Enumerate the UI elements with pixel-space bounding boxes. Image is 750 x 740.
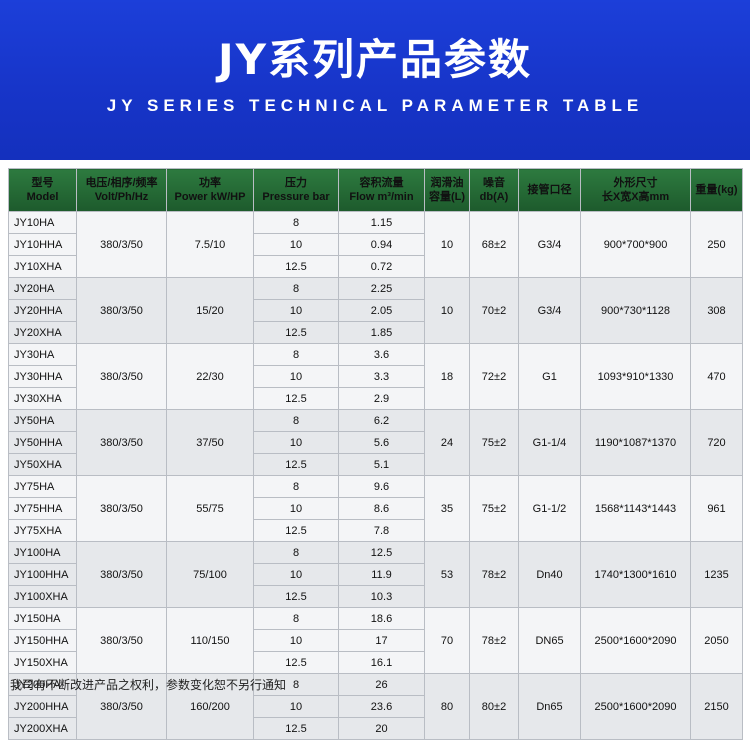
cell-pressure: 10 — [254, 498, 339, 520]
header-flow: 容积流量 Flow m³/min — [339, 169, 425, 212]
cell-port: Dn65 — [519, 674, 581, 740]
cell-oil: 80 — [425, 674, 470, 740]
header-model: 型号 Model — [9, 169, 77, 212]
footer-note: 我司有不断改进产品之权利，参数变化恕不另行通知 — [10, 676, 286, 693]
cell-flow: 2.25 — [339, 278, 425, 300]
page-root: JY系列产品参数 JY SERIES TECHNICAL PARAMETER T… — [0, 0, 750, 701]
header-voltage-en: Volt/Ph/Hz — [77, 190, 166, 204]
cell-dimension: 2500*1600*2090 — [581, 674, 691, 740]
header-weight: 重量(kg) — [691, 169, 743, 212]
spec-table-container: 型号 Model 电压/相序/频率 Volt/Ph/Hz 功率 Power kW… — [8, 168, 742, 740]
cell-weight: 470 — [691, 344, 743, 410]
cell-model: JY200HHA — [9, 696, 77, 718]
cell-power: 22/30 — [167, 344, 254, 410]
cell-pressure: 12.5 — [254, 652, 339, 674]
table-head: 型号 Model 电压/相序/频率 Volt/Ph/Hz 功率 Power kW… — [9, 169, 743, 212]
table-row: JY50HA380/3/5037/5086.22475±2G1-1/41190*… — [9, 410, 743, 432]
table-row: JY30HA380/3/5022/3083.61872±2G11093*910*… — [9, 344, 743, 366]
cell-voltage: 380/3/50 — [77, 476, 167, 542]
cell-flow: 7.8 — [339, 520, 425, 542]
cell-model: JY20HHA — [9, 300, 77, 322]
cell-noise: 78±2 — [470, 608, 519, 674]
cell-flow: 20 — [339, 718, 425, 740]
header-port: 接管口径 — [519, 169, 581, 212]
cell-flow: 8.6 — [339, 498, 425, 520]
header-port-cn: 接管口径 — [519, 183, 580, 197]
cell-weight: 2050 — [691, 608, 743, 674]
cell-flow: 17 — [339, 630, 425, 652]
cell-flow: 12.5 — [339, 542, 425, 564]
cell-flow: 26 — [339, 674, 425, 696]
cell-oil: 35 — [425, 476, 470, 542]
cell-oil: 70 — [425, 608, 470, 674]
header-pressure: 压力 Pressure bar — [254, 169, 339, 212]
cell-flow: 5.6 — [339, 432, 425, 454]
cell-voltage: 380/3/50 — [77, 410, 167, 476]
cell-model: JY10XHA — [9, 256, 77, 278]
cell-model: JY150HHA — [9, 630, 77, 652]
cell-voltage: 380/3/50 — [77, 344, 167, 410]
cell-pressure: 8 — [254, 212, 339, 234]
banner-title: JY系列产品参数 — [0, 34, 750, 86]
banner-subtitle: JY SERIES TECHNICAL PARAMETER TABLE — [0, 96, 750, 116]
cell-pressure: 12.5 — [254, 718, 339, 740]
header-model-cn: 型号 — [9, 176, 76, 190]
cell-flow: 3.3 — [339, 366, 425, 388]
cell-pressure: 10 — [254, 366, 339, 388]
cell-weight: 720 — [691, 410, 743, 476]
cell-model: JY30XHA — [9, 388, 77, 410]
cell-voltage: 380/3/50 — [77, 212, 167, 278]
cell-flow: 2.05 — [339, 300, 425, 322]
cell-pressure: 10 — [254, 630, 339, 652]
header-dimension-cn: 外形尺寸 — [581, 176, 690, 190]
table-body: JY10HA380/3/507.5/1081.151068±2G3/4900*7… — [9, 212, 743, 740]
cell-oil: 10 — [425, 212, 470, 278]
header-power-en: Power kW/HP — [167, 190, 253, 204]
cell-model: JY150HA — [9, 608, 77, 630]
cell-flow: 10.3 — [339, 586, 425, 608]
cell-pressure: 8 — [254, 608, 339, 630]
cell-weight: 250 — [691, 212, 743, 278]
cell-noise: 70±2 — [470, 278, 519, 344]
cell-flow: 23.6 — [339, 696, 425, 718]
header-oil-cn: 润滑油 — [425, 176, 469, 190]
header-pressure-cn: 压力 — [254, 176, 338, 190]
cell-power: 55/75 — [167, 476, 254, 542]
table-row: JY75HA380/3/5055/7589.63575±2G1-1/21568*… — [9, 476, 743, 498]
cell-pressure: 10 — [254, 696, 339, 718]
cell-noise: 75±2 — [470, 476, 519, 542]
cell-power: 75/100 — [167, 542, 254, 608]
cell-flow: 2.9 — [339, 388, 425, 410]
cell-oil: 53 — [425, 542, 470, 608]
cell-flow: 3.6 — [339, 344, 425, 366]
cell-voltage: 380/3/50 — [77, 608, 167, 674]
cell-oil: 10 — [425, 278, 470, 344]
cell-dimension: 1740*1300*1610 — [581, 542, 691, 608]
cell-power: 110/150 — [167, 608, 254, 674]
cell-flow: 1.15 — [339, 212, 425, 234]
header-noise-en: db(A) — [470, 190, 518, 204]
banner-text-block: JY系列产品参数 JY SERIES TECHNICAL PARAMETER T… — [0, 34, 750, 116]
table-row: JY100HA380/3/5075/100812.55378±2Dn401740… — [9, 542, 743, 564]
cell-power: 15/20 — [167, 278, 254, 344]
header-dimension: 外形尺寸 长X宽X高mm — [581, 169, 691, 212]
cell-flow: 5.1 — [339, 454, 425, 476]
header-row: 型号 Model 电压/相序/频率 Volt/Ph/Hz 功率 Power kW… — [9, 169, 743, 212]
cell-pressure: 10 — [254, 300, 339, 322]
table-row: JY10HA380/3/507.5/1081.151068±2G3/4900*7… — [9, 212, 743, 234]
cell-model: JY20HA — [9, 278, 77, 300]
cell-dimension: 1190*1087*1370 — [581, 410, 691, 476]
cell-port: G1-1/2 — [519, 476, 581, 542]
cell-pressure: 12.5 — [254, 520, 339, 542]
cell-port: G1-1/4 — [519, 410, 581, 476]
cell-oil: 24 — [425, 410, 470, 476]
cell-dimension: 1568*1143*1443 — [581, 476, 691, 542]
cell-pressure: 8 — [254, 278, 339, 300]
cell-pressure: 10 — [254, 234, 339, 256]
cell-weight: 1235 — [691, 542, 743, 608]
cell-flow: 11.9 — [339, 564, 425, 586]
header-flow-en: Flow m³/min — [339, 190, 424, 204]
cell-pressure: 8 — [254, 476, 339, 498]
cell-dimension: 1093*910*1330 — [581, 344, 691, 410]
cell-pressure: 12.5 — [254, 454, 339, 476]
cell-flow: 6.2 — [339, 410, 425, 432]
cell-model: JY200XHA — [9, 718, 77, 740]
cell-pressure: 12.5 — [254, 388, 339, 410]
cell-noise: 80±2 — [470, 674, 519, 740]
cell-model: JY75XHA — [9, 520, 77, 542]
cell-model: JY100HHA — [9, 564, 77, 586]
cell-voltage: 380/3/50 — [77, 278, 167, 344]
cell-port: DN65 — [519, 608, 581, 674]
header-noise: 噪音 db(A) — [470, 169, 519, 212]
cell-model: JY50HHA — [9, 432, 77, 454]
cell-dimension: 2500*1600*2090 — [581, 608, 691, 674]
cell-voltage: 380/3/50 — [77, 542, 167, 608]
cell-pressure: 10 — [254, 564, 339, 586]
cell-noise: 72±2 — [470, 344, 519, 410]
cell-port: G3/4 — [519, 212, 581, 278]
header-noise-cn: 噪音 — [470, 176, 518, 190]
cell-weight: 308 — [691, 278, 743, 344]
header-oil: 润滑油 容量(L) — [425, 169, 470, 212]
cell-flow: 0.94 — [339, 234, 425, 256]
cell-flow: 1.85 — [339, 322, 425, 344]
header-oil-en: 容量(L) — [425, 190, 469, 204]
cell-weight: 2150 — [691, 674, 743, 740]
cell-power: 7.5/10 — [167, 212, 254, 278]
cell-power: 37/50 — [167, 410, 254, 476]
cell-model: JY100HA — [9, 542, 77, 564]
cell-pressure: 12.5 — [254, 586, 339, 608]
cell-model: JY20XHA — [9, 322, 77, 344]
table-row: JY150HA380/3/50110/150818.67078±2DN65250… — [9, 608, 743, 630]
cell-noise: 75±2 — [470, 410, 519, 476]
header-voltage: 电压/相序/频率 Volt/Ph/Hz — [77, 169, 167, 212]
cell-pressure: 8 — [254, 542, 339, 564]
cell-flow: 9.6 — [339, 476, 425, 498]
cell-pressure: 8 — [254, 410, 339, 432]
header-power: 功率 Power kW/HP — [167, 169, 254, 212]
header-pressure-en: Pressure bar — [254, 190, 338, 204]
cell-pressure: 12.5 — [254, 322, 339, 344]
header-model-en: Model — [9, 190, 76, 204]
spec-table: 型号 Model 电压/相序/频率 Volt/Ph/Hz 功率 Power kW… — [8, 168, 743, 740]
banner: JY系列产品参数 JY SERIES TECHNICAL PARAMETER T… — [0, 0, 750, 160]
cell-port: G3/4 — [519, 278, 581, 344]
cell-model: JY75HA — [9, 476, 77, 498]
cell-model: JY150XHA — [9, 652, 77, 674]
header-power-cn: 功率 — [167, 176, 253, 190]
cell-oil: 18 — [425, 344, 470, 410]
header-dimension-en: 长X宽X高mm — [581, 190, 690, 204]
cell-model: JY50XHA — [9, 454, 77, 476]
cell-model: JY100XHA — [9, 586, 77, 608]
cell-model: JY50HA — [9, 410, 77, 432]
cell-dimension: 900*700*900 — [581, 212, 691, 278]
cell-noise: 78±2 — [470, 542, 519, 608]
header-flow-cn: 容积流量 — [339, 176, 424, 190]
cell-pressure: 10 — [254, 432, 339, 454]
cell-port: G1 — [519, 344, 581, 410]
cell-pressure: 8 — [254, 344, 339, 366]
cell-model: JY10HHA — [9, 234, 77, 256]
header-weight-cn: 重量(kg) — [691, 183, 742, 197]
cell-model: JY30HHA — [9, 366, 77, 388]
cell-flow: 16.1 — [339, 652, 425, 674]
table-row: JY20HA380/3/5015/2082.251070±2G3/4900*73… — [9, 278, 743, 300]
cell-model: JY10HA — [9, 212, 77, 234]
cell-port: Dn40 — [519, 542, 581, 608]
cell-flow: 18.6 — [339, 608, 425, 630]
header-voltage-cn: 电压/相序/频率 — [77, 176, 166, 190]
cell-weight: 961 — [691, 476, 743, 542]
cell-model: JY75HHA — [9, 498, 77, 520]
cell-pressure: 12.5 — [254, 256, 339, 278]
cell-noise: 68±2 — [470, 212, 519, 278]
cell-dimension: 900*730*1128 — [581, 278, 691, 344]
cell-flow: 0.72 — [339, 256, 425, 278]
cell-model: JY30HA — [9, 344, 77, 366]
